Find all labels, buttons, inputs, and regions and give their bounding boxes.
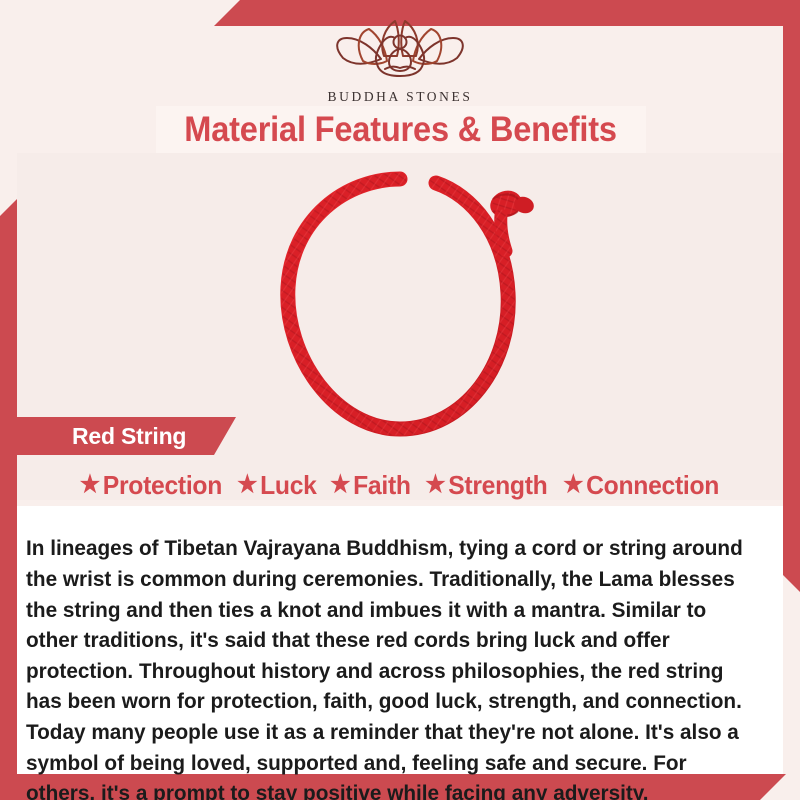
- decor-band-left: [0, 199, 17, 774]
- red-braided-string-bracelet-icon: [250, 161, 550, 466]
- page-title: Material Features & Benefits: [185, 110, 618, 150]
- benefit-label: Strength: [448, 470, 547, 501]
- benefit-item: ★ Faith: [330, 470, 411, 501]
- benefit-label: Connection: [587, 470, 720, 501]
- star-icon: ★: [564, 473, 584, 497]
- benefits-list: ★ Protection ★ Luck ★ Faith ★ Strength ★…: [17, 466, 783, 504]
- lotus-meditation-icon: [315, 16, 485, 87]
- benefit-item: ★ Protection: [80, 470, 222, 501]
- benefit-label: Luck: [260, 470, 317, 501]
- star-icon: ★: [330, 473, 350, 497]
- benefit-item: ★ Connection: [564, 470, 720, 501]
- benefit-label: Faith: [353, 470, 411, 501]
- benefit-item: ★ Luck: [237, 470, 317, 501]
- brand-logo: BUDDHA STONES: [0, 16, 800, 102]
- star-icon: ★: [237, 473, 257, 497]
- brand-name: BUDDHA STONES: [328, 89, 473, 105]
- product-label: Red String: [72, 423, 186, 450]
- star-icon: ★: [80, 473, 100, 497]
- poster-root: BUDDHA STONES Material Features & Benefi…: [0, 0, 800, 800]
- star-icon: ★: [425, 473, 445, 497]
- product-label-ribbon: Red String: [17, 417, 236, 455]
- description-text: In lineages of Tibetan Vajrayana Buddhis…: [26, 533, 743, 800]
- decor-band-right: [783, 26, 800, 592]
- benefit-item: ★ Strength: [425, 470, 547, 501]
- benefit-label: Protection: [103, 470, 222, 501]
- description-panel: In lineages of Tibetan Vajrayana Buddhis…: [17, 506, 783, 774]
- title-banner: Material Features & Benefits: [156, 106, 646, 153]
